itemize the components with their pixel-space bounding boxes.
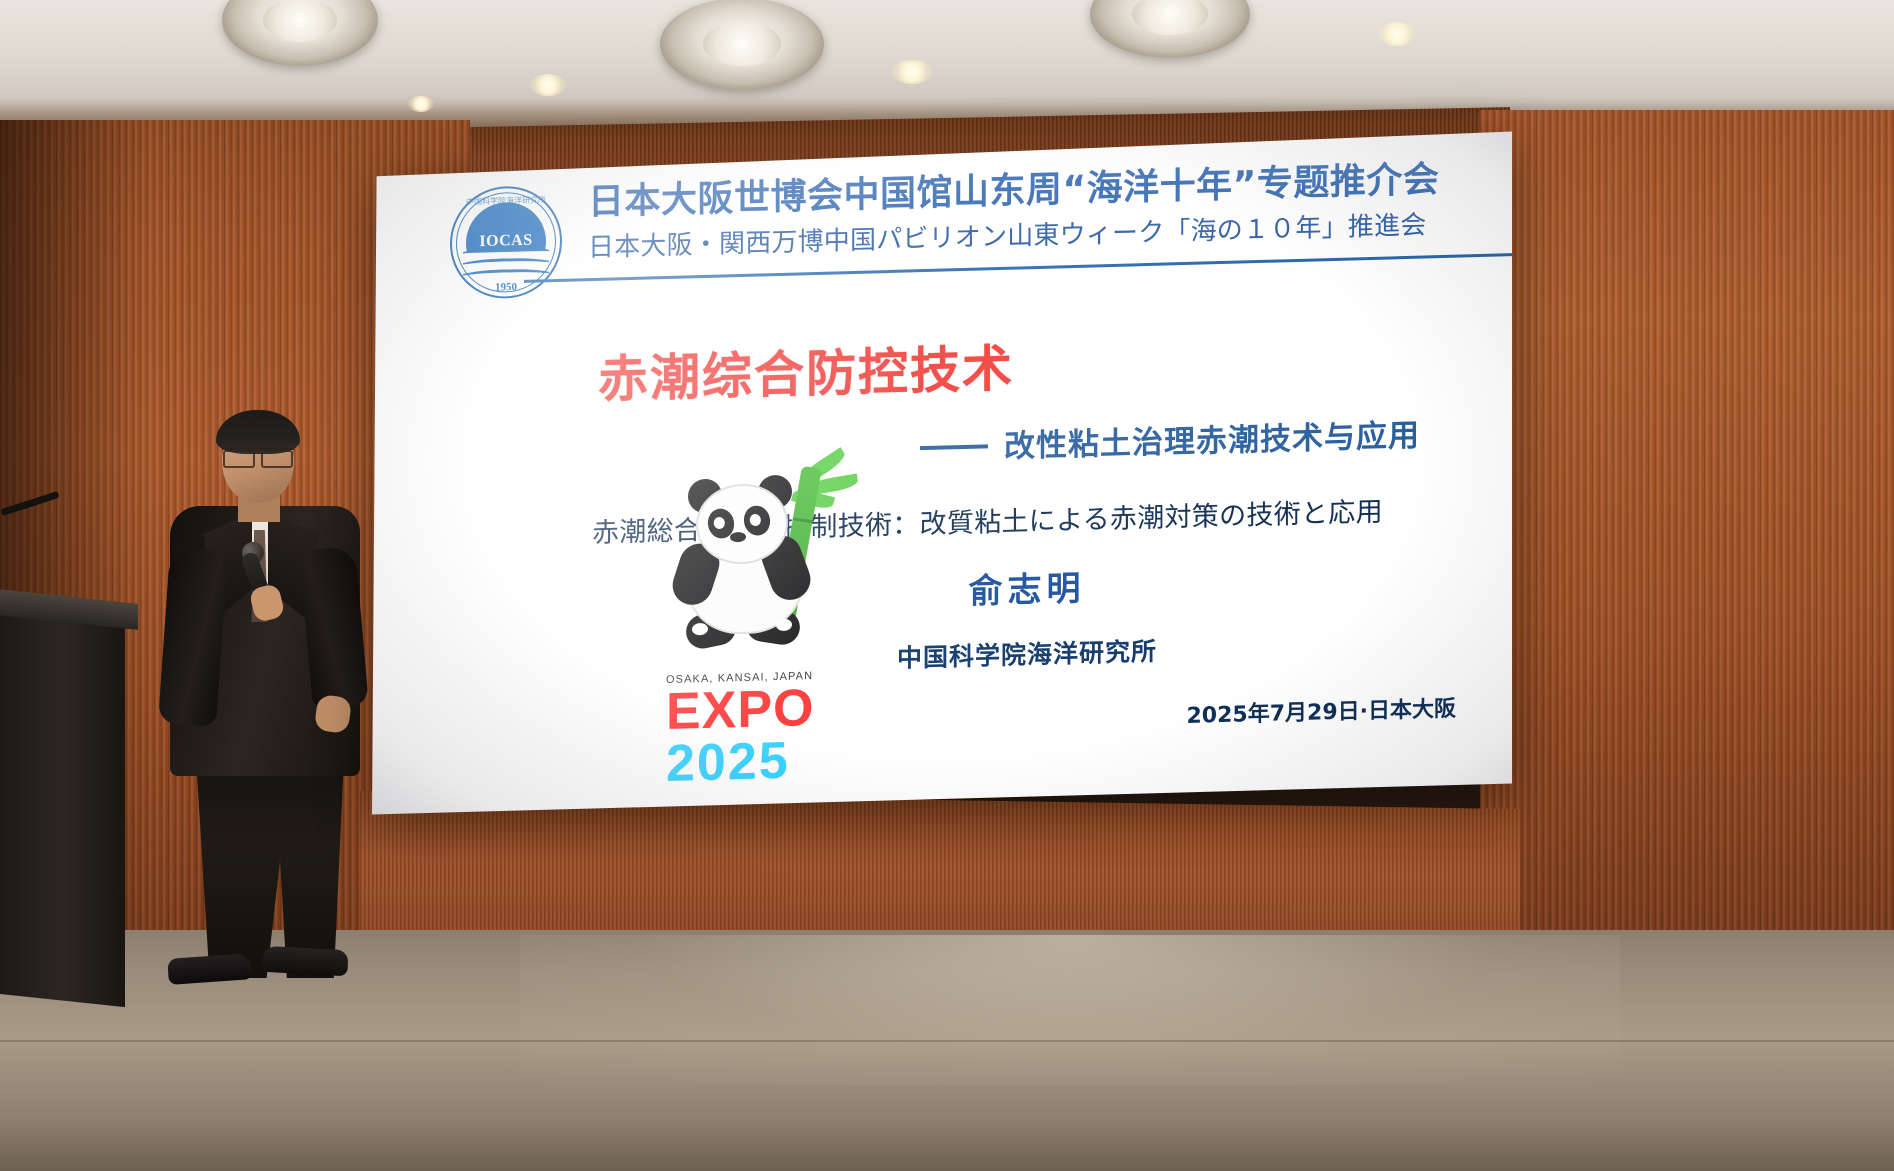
expo-year: 2025 (666, 733, 846, 791)
ceiling-spotlight (1378, 22, 1416, 46)
floor-seam (0, 1040, 1894, 1042)
presenter-organization: 中国科学院海洋研究所 (542, 622, 1512, 684)
projected-slide[interactable]: 中国科学院海洋研究所 IOCAS 1950 日本大阪世博会中国馆山东周“海洋十年… (372, 128, 1512, 818)
expo-2025-logo: OSAKA, KANSAI, JAPAN EXPO 2025 (666, 669, 846, 791)
slide-subtitle-chinese: 改性粘土治理赤潮技术与应用 (426, 409, 1460, 482)
speaker-arm-left (158, 548, 228, 727)
wood-wall-right (1480, 110, 1894, 940)
subtitle-chinese-text: 改性粘土治理赤潮技术与应用 (1004, 418, 1420, 465)
glasses-icon (222, 448, 294, 463)
slide-header: 中国科学院海洋研究所 IOCAS 1950 日本大阪世博会中国馆山东周“海洋十年… (426, 157, 1460, 301)
ceiling-downlight (660, 0, 824, 90)
floor-light-reflection (520, 935, 1620, 1085)
presenter-block: 俞志明 中国科学院海洋研究所 (372, 549, 1512, 689)
speaker-figure (130, 400, 400, 970)
ceiling-spotlight (408, 96, 434, 112)
conference-hall-scene: 中国科学院海洋研究所 IOCAS 1950 日本大阪世博会中国馆山东周“海洋十年… (0, 0, 1894, 1171)
projection-screen[interactable]: 中国科学院海洋研究所 IOCAS 1950 日本大阪世博会中国馆山东周“海洋十年… (372, 128, 1512, 818)
ceiling-spotlight (892, 60, 932, 84)
slide-subtitle-japanese: 赤潮総合予防・抑制技術：改質粘土による赤潮対策の技術と応用 (426, 488, 1460, 555)
slide-date-location: 2025年7月29日·日本大阪 (1186, 691, 1456, 730)
ceiling-spotlight (530, 74, 566, 96)
podium (0, 593, 125, 1007)
expo-wordmark: EXPO (666, 683, 846, 738)
logo-acronym: IOCAS (450, 231, 562, 252)
header-text-group: 日本大阪世博会中国馆山东周“海洋十年”专题推介会 日本大阪・関西万博中国パビリオ… (588, 153, 1512, 281)
em-dash-rule (920, 444, 988, 450)
logo-year: 1950 (450, 280, 562, 295)
slide-content: 中国科学院海洋研究所 IOCAS 1950 日本大阪世博会中国馆山东周“海洋十年… (372, 128, 1512, 818)
speaker-shoe-right (261, 946, 348, 976)
iocas-logo-icon: 中国科学院海洋研究所 IOCAS 1950 (450, 185, 562, 300)
speaker-legs (186, 760, 354, 978)
slide-main-title: 赤潮综合防控技术 (426, 317, 1460, 417)
